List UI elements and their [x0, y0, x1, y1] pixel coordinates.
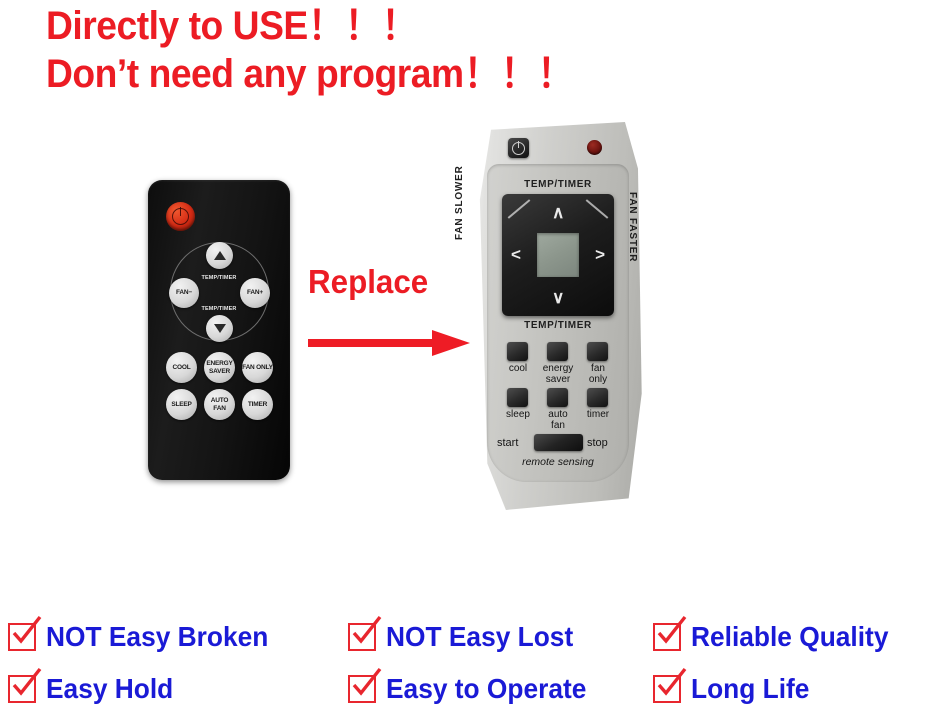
feature-label: NOT Easy Broken [46, 622, 268, 652]
timer-button[interactable]: TIMER [242, 389, 273, 420]
checkbox-checked-icon [8, 675, 36, 703]
fan-only-button[interactable] [587, 342, 608, 361]
power-icon [512, 142, 525, 155]
start-label: start [497, 437, 518, 449]
chevron-down-icon[interactable]: ∨ [552, 289, 564, 306]
chevron-up-icon[interactable]: ∧ [552, 204, 564, 221]
right-arrow-icon [308, 330, 470, 356]
fan-only-label: fan only [576, 363, 620, 385]
headline-line-2: Don’t need any program！！！ [46, 50, 790, 98]
feature-label: Easy to Operate [386, 674, 586, 704]
cool-button[interactable]: COOL [166, 352, 197, 383]
sleep-button[interactable]: SLEEP [166, 389, 197, 420]
feature-item: NOT Easy Broken [8, 622, 283, 652]
old-remote-black: TEMP/TIMER FAN− FAN+ TEMP/TIMER COOL ENE… [148, 180, 290, 480]
fan-minus-button[interactable]: FAN− [169, 278, 199, 308]
power-button[interactable] [508, 138, 529, 158]
temp-timer-up-button[interactable] [206, 242, 233, 269]
directional-pad[interactable]: ∧ < > ∨ [502, 194, 614, 316]
checkbox-checked-icon [348, 623, 376, 651]
led-indicator-icon [587, 140, 602, 155]
new-remote-gray: TEMP/TIMER ∧ < > ∨ FAN SLOWER FAN FASTER… [465, 122, 651, 510]
feature-list: NOT Easy Broken NOT Easy Lost Reliable Q… [0, 612, 950, 719]
feature-label: NOT Easy Lost [386, 622, 573, 652]
headline-line-1: Directly to USE！！！ [46, 2, 790, 50]
energy-saver-label: energy saver [536, 363, 580, 385]
feature-label: Easy Hold [46, 674, 173, 704]
cool-label: cool [496, 363, 540, 374]
remote-sensing-label: remote sensing [465, 456, 651, 468]
fan-plus-button[interactable]: FAN+ [240, 278, 270, 308]
feature-label: Reliable Quality [691, 622, 888, 652]
energy-saver-button[interactable] [547, 342, 568, 361]
checkbox-checked-icon [348, 675, 376, 703]
cool-button[interactable] [507, 342, 528, 361]
feature-item: Reliable Quality [653, 622, 901, 652]
fan-only-button[interactable]: FAN ONLY [242, 352, 273, 383]
checkbox-checked-icon [653, 675, 681, 703]
timer-button[interactable] [587, 388, 608, 407]
feature-label: Long Life [691, 674, 809, 704]
power-button[interactable] [166, 202, 195, 231]
triangle-up-icon [214, 251, 226, 260]
arrow-shaft [308, 339, 436, 347]
feature-item: Easy to Operate [348, 674, 599, 704]
replace-label: Replace [308, 265, 428, 299]
sleep-label: sleep [496, 409, 540, 420]
auto-fan-button[interactable]: AUTO FAN [204, 389, 235, 420]
stop-label: stop [587, 437, 608, 449]
chevron-left-icon[interactable]: < [511, 246, 521, 263]
temp-timer-label-top: TEMP/TIMER [465, 179, 651, 190]
feature-item: NOT Easy Lost [348, 622, 585, 652]
lcd-display [537, 233, 579, 277]
fan-faster-label: FAN FASTER [627, 192, 638, 262]
triangle-down-icon [214, 324, 226, 333]
auto-fan-label: auto fan [536, 409, 580, 431]
auto-fan-button[interactable] [547, 388, 568, 407]
checkbox-checked-icon [8, 623, 36, 651]
temp-timer-label-bottom: TEMP/TIMER [148, 306, 290, 312]
temp-timer-label-top: TEMP/TIMER [148, 275, 290, 281]
feature-item: Easy Hold [8, 674, 181, 704]
temp-timer-label-bottom: TEMP/TIMER [465, 320, 651, 331]
energy-saver-button[interactable]: ENERGY SAVER [204, 352, 235, 383]
chevron-right-icon[interactable]: > [595, 246, 605, 263]
timer-label: timer [576, 409, 620, 420]
remote-sensing-slider[interactable] [534, 434, 583, 451]
fan-slower-label: FAN SLOWER [454, 165, 465, 240]
feature-item: Long Life [653, 674, 817, 704]
temp-timer-down-button[interactable] [206, 315, 233, 342]
power-icon [172, 208, 189, 225]
sleep-button[interactable] [507, 388, 528, 407]
headline-block: Directly to USE！！！ Don’t need any progra… [46, 2, 846, 98]
checkbox-checked-icon [653, 623, 681, 651]
